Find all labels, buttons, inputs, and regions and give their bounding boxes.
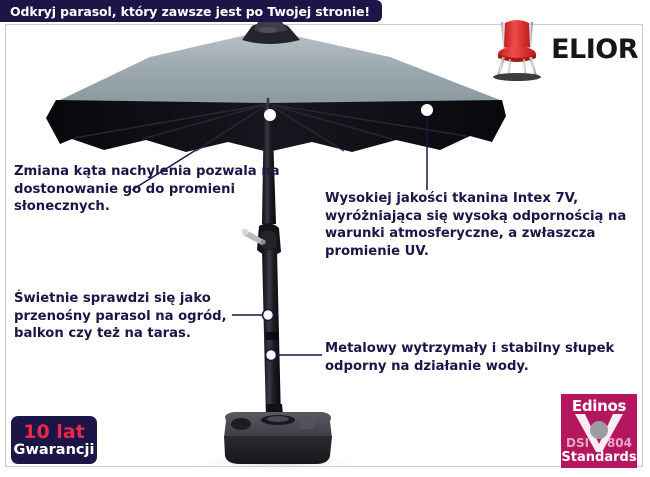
warranty-badge: 10 lat Gwarancji — [11, 416, 97, 464]
brand-name: ELIOR — [551, 36, 638, 63]
edinos-dsi: DSI — [566, 437, 589, 449]
edinos-standards: Standards — [561, 451, 637, 464]
edinos-badge: Edinos DSI 804 Standards — [561, 394, 637, 468]
callout-pole: Metalowy wytrzymały i stabilny słupek od… — [325, 340, 625, 375]
product-infographic: Odkryj parasol, który zawsze jest po Two… — [0, 0, 650, 477]
brand-logo: ELIOR — [489, 16, 638, 82]
callout-fabric: Wysokiej jakości tkanina Intex 7V, wyróż… — [325, 190, 635, 260]
warranty-years: 10 lat — [23, 423, 84, 442]
headline-banner: Odkryj parasol, który zawsze jest po Two… — [0, 0, 382, 22]
callout-tilt: Zmiana kąta nachylenia pozwala na doston… — [14, 163, 284, 216]
edinos-number: 804 — [607, 437, 632, 449]
callout-portable: Świetnie sprawdzi się jako przenośny par… — [14, 290, 264, 343]
red-chair-icon — [489, 16, 545, 82]
warranty-label: Gwarancji — [14, 443, 95, 458]
edinos-title: Edinos — [572, 399, 626, 414]
